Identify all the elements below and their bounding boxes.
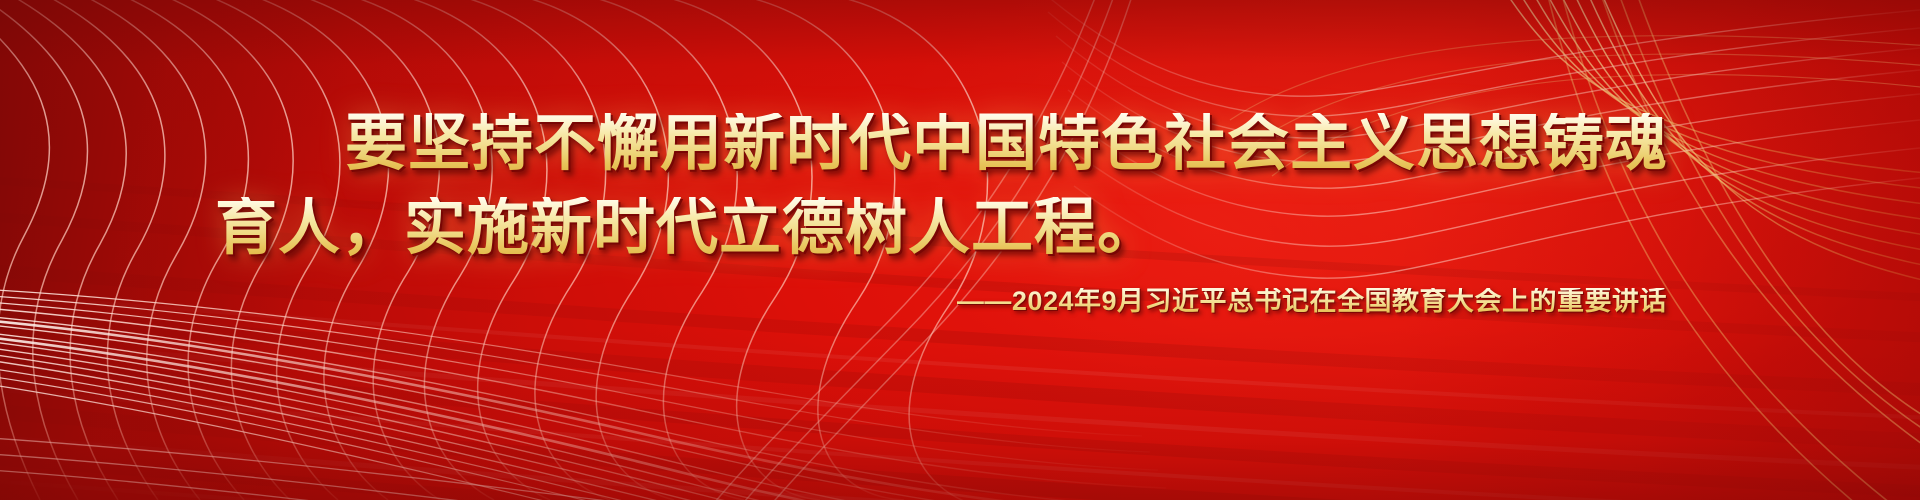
banner-text-block: 要坚持不懈用新时代中国特色社会主义思想铸魂 育人，实施新时代立德树人工程。 ——… bbox=[0, 0, 1920, 500]
speech-attribution: ——2024年9月习近平总书记在全国教育大会上的重要讲话 bbox=[957, 288, 1667, 315]
headline-line-1: 要坚持不懈用新时代中国特色社会主义思想铸魂 bbox=[345, 113, 1668, 175]
headline-line-2: 育人，实施新时代立德树人工程。 bbox=[215, 197, 1160, 259]
banner-canvas: 要坚持不懈用新时代中国特色社会主义思想铸魂 育人，实施新时代立德树人工程。 ——… bbox=[0, 0, 1920, 500]
